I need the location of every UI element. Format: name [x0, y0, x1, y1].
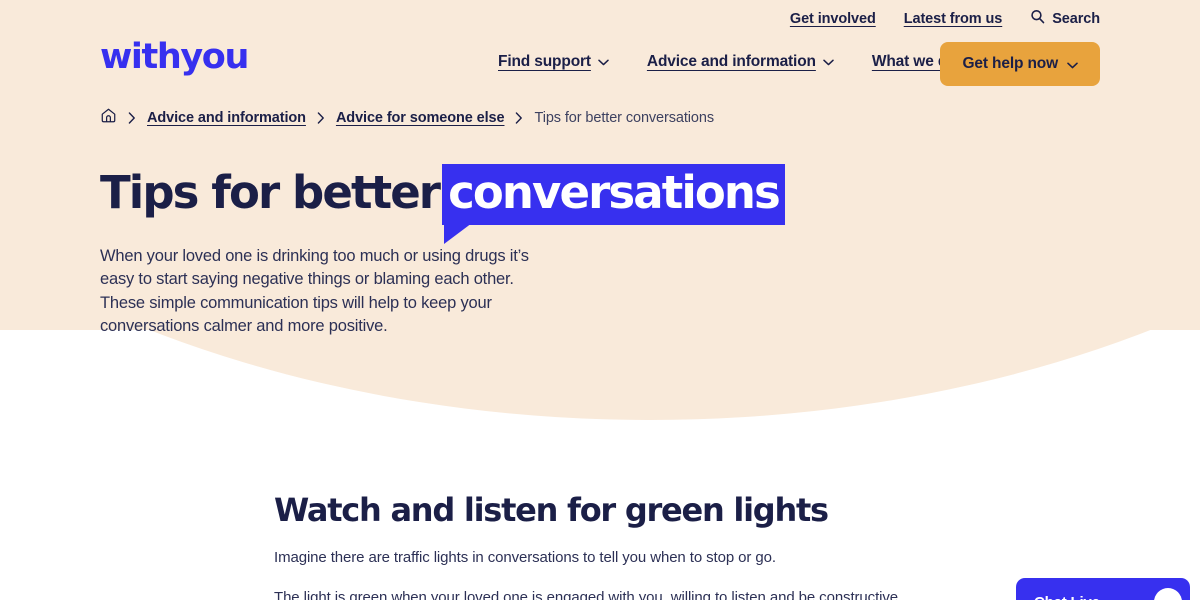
breadcrumb-item-current: Tips for better conversations	[534, 110, 714, 126]
breadcrumb: Advice and information Advice for someon…	[100, 107, 714, 129]
chevron-right-icon	[317, 112, 325, 124]
speech-bubble-tail	[444, 223, 472, 244]
chevron-down-icon	[823, 53, 834, 71]
nav-label: Find support	[498, 53, 591, 71]
search-icon	[1030, 9, 1045, 29]
site-logo[interactable]: withyou	[100, 40, 248, 75]
main-navigation: Find support Advice and information What…	[498, 53, 974, 71]
breadcrumb-item-advice-and-information[interactable]: Advice and information	[147, 110, 306, 126]
ellipsis-icon[interactable]	[1154, 588, 1182, 600]
nav-item-advice-and-information[interactable]: Advice and information	[647, 53, 834, 71]
chevron-down-icon	[598, 53, 609, 71]
utility-link-latest-from-us[interactable]: Latest from us	[904, 11, 1003, 27]
page-title-plain: Tips for better	[100, 166, 439, 219]
utility-bar: Get involved Latest from us Search	[790, 9, 1100, 29]
search-button[interactable]: Search	[1030, 9, 1100, 29]
utility-link-get-involved[interactable]: Get involved	[790, 11, 876, 27]
chat-live-label: Chat Live	[1034, 594, 1100, 600]
nav-item-find-support[interactable]: Find support	[498, 53, 609, 71]
chat-live-widget[interactable]: Chat Live	[1016, 578, 1190, 600]
page-title-highlight: conversations	[442, 164, 785, 225]
page-title-highlight-wrap: conversations	[439, 164, 785, 225]
body-section: Watch and listen for green lights Imagin…	[274, 492, 974, 600]
chevron-down-icon	[1067, 57, 1078, 72]
page-title: Tips for betterconversations	[100, 164, 785, 225]
hero-intro-paragraph: When your loved one is drinking too much…	[100, 245, 540, 339]
nav-label: Advice and information	[647, 53, 816, 71]
section-heading: Watch and listen for green lights	[274, 492, 974, 529]
breadcrumb-item-advice-for-someone-else[interactable]: Advice for someone else	[336, 110, 505, 126]
chevron-right-icon	[515, 112, 523, 124]
body-paragraph: Imagine there are traffic lights in conv…	[274, 547, 974, 570]
breadcrumb-home-link[interactable]	[100, 107, 117, 129]
chevron-right-icon	[128, 112, 136, 124]
get-help-now-button[interactable]: Get help now	[940, 42, 1100, 86]
home-icon	[100, 107, 117, 129]
search-label: Search	[1052, 11, 1100, 27]
get-help-now-label: Get help now	[962, 55, 1058, 73]
body-paragraph: The light is green when your loved one i…	[274, 587, 974, 600]
